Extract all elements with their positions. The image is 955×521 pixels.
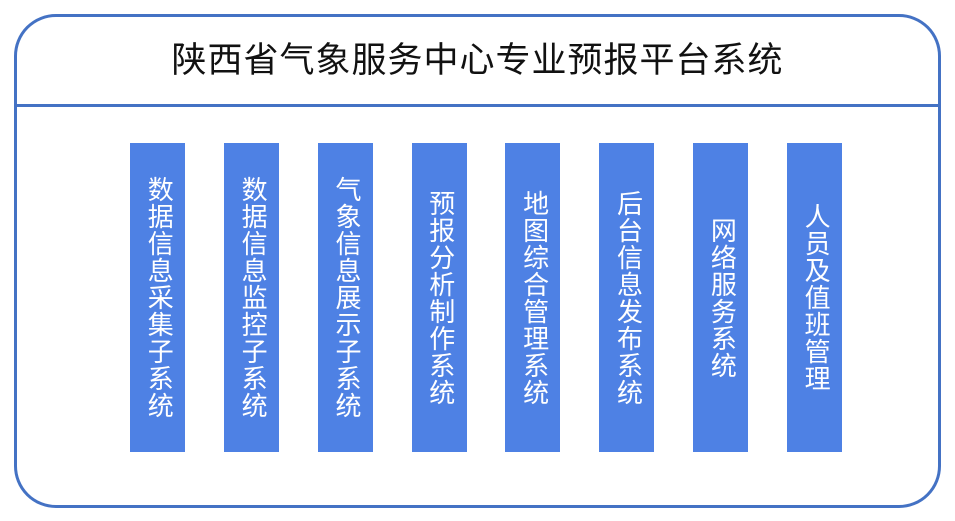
diagram-canvas: 陕西省气象服务中心专业预报平台系统 数据信息采集子系统 数据信息监控子系统 气象…	[0, 0, 955, 521]
module-label: 数据信息监控子系统	[238, 176, 266, 419]
modules-row: 数据信息采集子系统 数据信息监控子系统 气象信息展示子系统 预报分析制作系统 地…	[130, 143, 842, 452]
title-band: 陕西省气象服务中心专业预报平台系统	[14, 14, 941, 108]
module-label: 预报分析制作系统	[425, 190, 453, 406]
title-divider	[16, 104, 939, 107]
module-label: 气象信息展示子系统	[331, 176, 359, 419]
module-box-staff-duty-management[interactable]: 人员及值班管理	[787, 143, 842, 452]
module-box-data-collection[interactable]: 数据信息采集子系统	[130, 143, 185, 452]
module-label: 网络服务系统	[707, 217, 735, 379]
module-box-data-monitoring[interactable]: 数据信息监控子系统	[224, 143, 279, 452]
module-label: 人员及值班管理	[801, 203, 829, 392]
module-box-map-management[interactable]: 地图综合管理系统	[505, 143, 560, 452]
module-box-backend-publishing[interactable]: 后台信息发布系统	[599, 143, 654, 452]
module-box-network-service[interactable]: 网络服务系统	[693, 143, 748, 452]
module-box-forecast-production[interactable]: 预报分析制作系统	[412, 143, 467, 452]
page-title: 陕西省气象服务中心专业预报平台系统	[171, 42, 783, 81]
module-label: 数据信息采集子系统	[144, 176, 172, 419]
module-label: 后台信息发布系统	[613, 190, 641, 406]
module-label: 地图综合管理系统	[519, 190, 547, 406]
module-box-weather-display[interactable]: 气象信息展示子系统	[318, 143, 373, 452]
